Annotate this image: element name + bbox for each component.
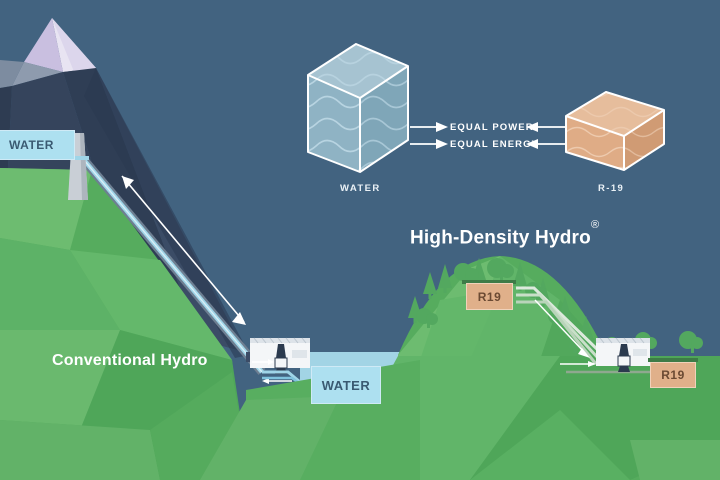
caption-r19-block: R-19 xyxy=(598,183,624,194)
section-title-conventional-hydro-text: Conventional Hydro xyxy=(52,352,208,369)
section-title-conventional-hydro: Conventional Hydro xyxy=(52,352,208,370)
equivalence-label-energy: EQUAL ENERGY xyxy=(450,139,539,150)
equivalence-label-power: EQUAL POWER xyxy=(450,122,534,133)
section-title-high-density-hydro: High-Density Hydro® xyxy=(410,227,599,249)
reservoir-label-water-lower: WATER xyxy=(311,366,381,404)
scene-artwork xyxy=(0,0,720,480)
section-title-high-density-hydro-text: High-Density Hydro xyxy=(410,227,591,248)
caption-water-block: WATER xyxy=(340,183,381,194)
reservoir-label-r19-lower: R19 xyxy=(650,362,696,388)
infographic-canvas: WATER WATER R19 R19 Conventional Hydro H… xyxy=(0,0,720,480)
reservoir-label-water-upper: WATER xyxy=(0,130,75,160)
registered-trademark-mark: ® xyxy=(591,219,599,231)
reservoir-label-r19-upper: R19 xyxy=(466,283,513,310)
